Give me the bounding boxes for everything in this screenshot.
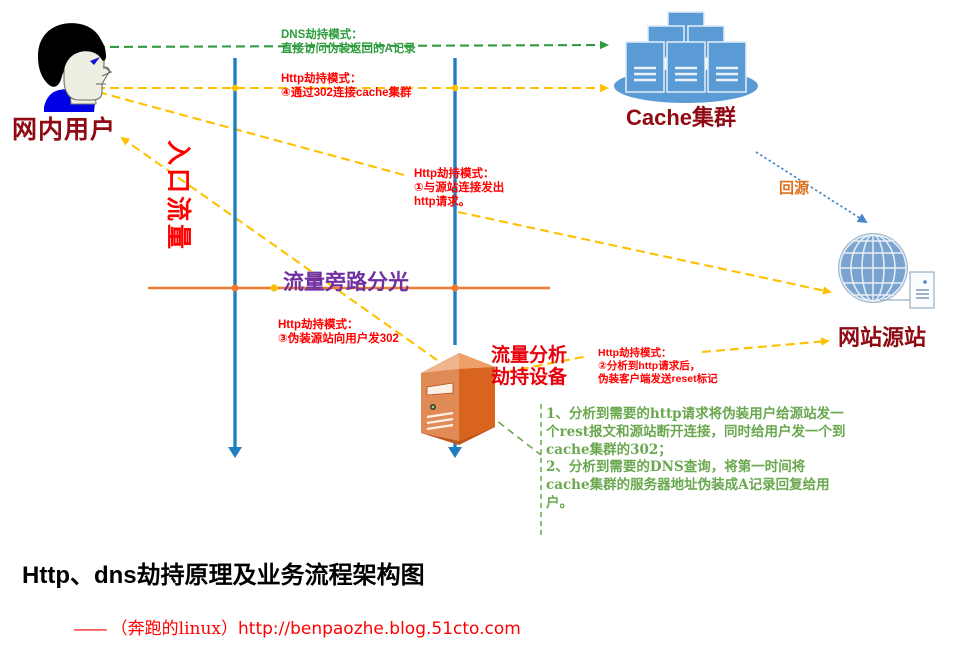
back-to-source-arrow <box>756 152 866 222</box>
annotation-dns-hijack: DNS劫持模式： 直接访问伪装返回的A记录 <box>281 28 416 56</box>
diagram-canvas: 网内用户 Cache集群 网站源站 流量分析 劫持设备 流量旁路分光 回源 入口… <box>0 0 953 641</box>
annotation-http-step1: Http劫持模式： ①与源站连接发出 http请求。 <box>414 167 504 209</box>
device-behaviour-note: 1、分析到需要的http请求将伪装用户给源站发一个rest报文和源站断开连接，同… <box>546 406 846 513</box>
cache-cluster-label: Cache集群 <box>626 105 736 132</box>
analysis-device-label: 流量分析 劫持设备 <box>491 345 567 390</box>
tap-dot-upper-left <box>232 85 238 91</box>
page-title: Http、dns劫持原理及业务流程架构图 <box>22 561 425 590</box>
user-head-icon <box>14 12 134 124</box>
optical-splitter-label: 流量旁路分光 <box>283 269 409 295</box>
footer-author: （奔跑的linux） <box>111 619 238 639</box>
annotation-http-step3: Http劫持模式： ③伪装源站向用户发302 <box>278 318 399 346</box>
origin-site-label: 网站源站 <box>838 325 926 352</box>
tap-dot-upper-right <box>452 85 458 91</box>
back-to-source-label: 回源 <box>779 180 809 198</box>
connector-layer <box>0 0 953 641</box>
footer-url: http://benpaozhe.blog.51cto.com <box>238 619 521 639</box>
footer-credit: —— （奔跑的linux）http://benpaozhe.blog.51cto… <box>55 598 521 660</box>
server-tower-icon <box>413 345 503 453</box>
annotation-http-step4: Http劫持模式： ④通过302连接cache集群 <box>281 72 412 100</box>
footer-dash: —— <box>74 619 106 638</box>
annotation-http-step2: Http劫持模式： ②分析到http请求后， 伪装客户端发送reset标记 <box>598 347 718 385</box>
ingress-traffic-label: 入口流量 <box>162 140 198 270</box>
server-cluster-icon <box>606 8 766 108</box>
globe-server-icon <box>832 228 936 320</box>
user-label: 网内用户 <box>12 115 116 146</box>
